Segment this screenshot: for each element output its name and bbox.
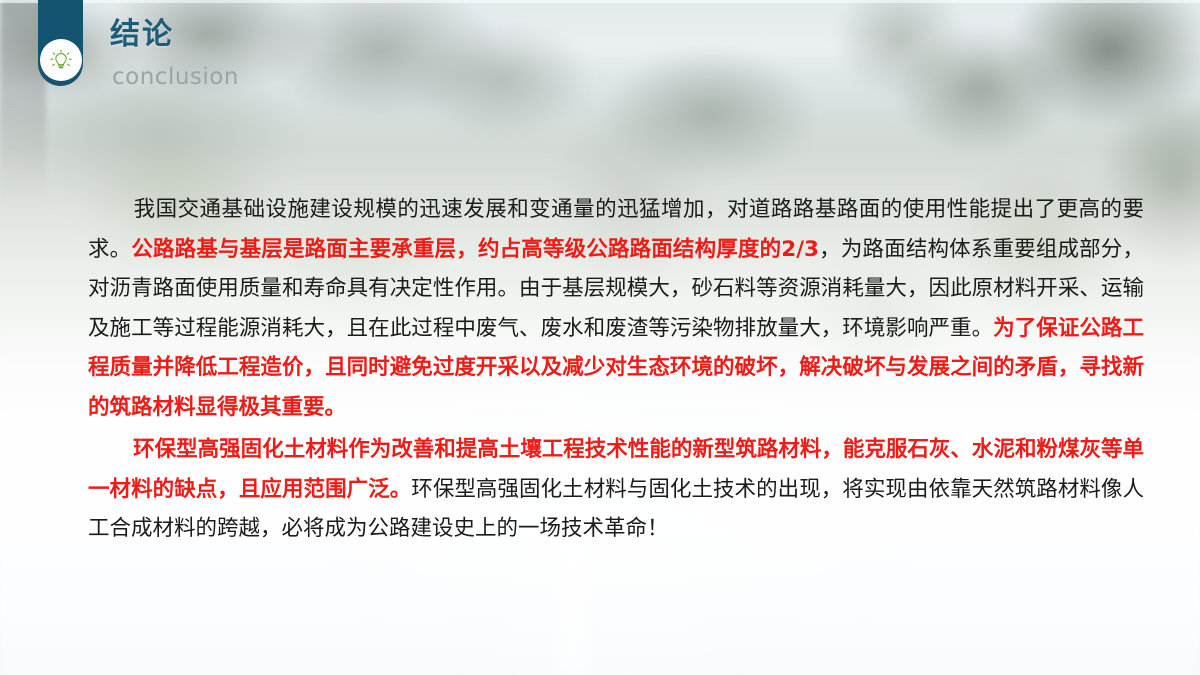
page-title-en: conclusion xyxy=(112,66,239,89)
conclusion-body: 我国交通基础设施建设规模的迅速发展和变通量的迅猛增加，对道路路基路面的使用性能提… xyxy=(88,190,1144,549)
paragraph-1: 我国交通基础设施建设规模的迅速发展和变通量的迅猛增加，对道路路基路面的使用性能提… xyxy=(88,190,1144,427)
slide-header: 结论 conclusion xyxy=(0,0,700,120)
slide-root: 结论 conclusion 我国交通基础设施建设规模的迅速发展和变通量的迅猛增加… xyxy=(0,0,1200,675)
paragraph-2: 环保型高强固化土材料作为改善和提高土壤工程技术性能的新型筑路材料，能克服石灰、水… xyxy=(88,430,1144,549)
text-run-highlight: 公路路基与基层是路面主要承重层，约占高等级公路路面结构厚度的2/3 xyxy=(131,237,819,262)
page-title-cn: 结论 xyxy=(110,20,174,50)
lightbulb-icon xyxy=(40,39,82,81)
